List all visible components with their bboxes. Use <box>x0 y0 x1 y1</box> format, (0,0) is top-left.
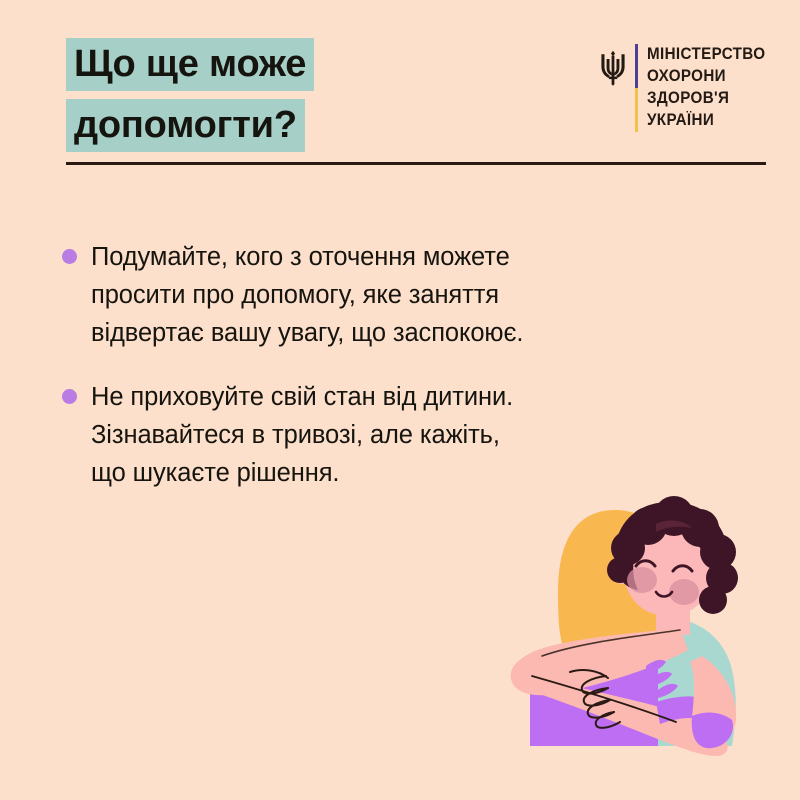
ministry-logo: МІНІСТЕРСТВО ОХОРОНИ ЗДОРОВ'Я УКРАЇНИ <box>600 42 776 132</box>
page-title-line-2: допомогти? <box>66 99 305 152</box>
logo-text-line-3: ЗДОРОВ'Я <box>647 87 765 109</box>
hug-illustration-svg <box>470 470 800 800</box>
logo-text-line-2: ОХОРОНИ <box>647 65 765 87</box>
logo-text-line-1: МІНІСТЕРСТВО <box>647 43 765 65</box>
cheek-right <box>669 579 699 605</box>
bullet-dot-icon <box>62 389 77 404</box>
cheek-left <box>627 567 657 593</box>
two-people-hugging-illustration <box>470 470 800 800</box>
list-item: Подумайте, кого з оточення можете просит… <box>62 238 542 352</box>
list-item-text: Не приховуйте свій стан від дитини. Зізн… <box>91 378 531 492</box>
ukrainian-trident-icon <box>600 50 626 86</box>
poster-root: Що ще може допомогти? МІНІСТЕРСТВО ОХОРО… <box>0 0 800 800</box>
logo-flag-divider <box>635 44 638 132</box>
logo-text-line-4: УКРАЇНИ <box>647 109 765 131</box>
list-item-text: Подумайте, кого з оточення можете просит… <box>91 238 531 352</box>
ministry-logo-text: МІНІСТЕРСТВО ОХОРОНИ ЗДОРОВ'Я УКРАЇНИ <box>647 42 776 131</box>
header-divider-rule <box>66 162 766 165</box>
header: Що ще може допомогти? МІНІСТЕРСТВО ОХОРО… <box>0 0 800 170</box>
bullet-dot-icon <box>62 249 77 264</box>
page-title: Що ще може допомогти? <box>66 38 314 152</box>
page-title-line-1: Що ще може <box>66 38 314 91</box>
